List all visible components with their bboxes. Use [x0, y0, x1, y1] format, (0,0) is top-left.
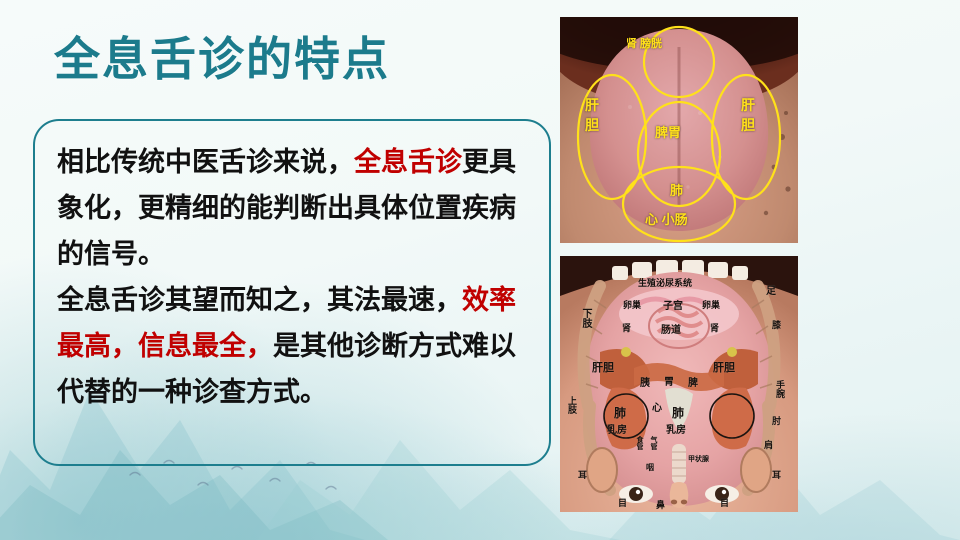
page-title: 全息舌诊的特点 — [54, 36, 390, 82]
paragraph-1: 相比传统中医舌诊来说，全息舌诊更具象化，更精细的能判断出具体位置疾病的信号。 — [57, 139, 529, 277]
tongue-holographic-map-photo: 生殖泌尿系统 卵巢 子宫 卵巢 肾 肠道 肾 下肢 足 膝 肝胆 肝胆 胰 胃 … — [560, 256, 798, 512]
paragraph-2-segment-1: 全息舌诊其望而知之，其法最速， — [57, 285, 462, 315]
slide-canvas: 全息舌诊的特点 相比传统中医舌诊来说，全息舌诊更具象化，更精细的能判断出具体位置… — [0, 0, 960, 540]
paragraph-1-highlight: 全息舌诊 — [354, 147, 462, 177]
content-callout-box: 相比传统中医舌诊来说，全息舌诊更具象化，更精细的能判断出具体位置疾病的信号。 全… — [33, 119, 551, 466]
paragraph-1-segment-1: 相比传统中医舌诊来说， — [57, 147, 354, 177]
tongue-zone-photo: 肾 膀胱 肝 胆 脾胃 肝 胆 肺 心 小肠 — [560, 17, 798, 243]
holographic-map-illustration — [560, 256, 798, 512]
tongue-zone-illustration — [560, 17, 798, 243]
paragraph-2: 全息舌诊其望而知之，其法最速，效率最高，信息最全，是其他诊断方式难以代替的一种诊… — [57, 277, 529, 415]
